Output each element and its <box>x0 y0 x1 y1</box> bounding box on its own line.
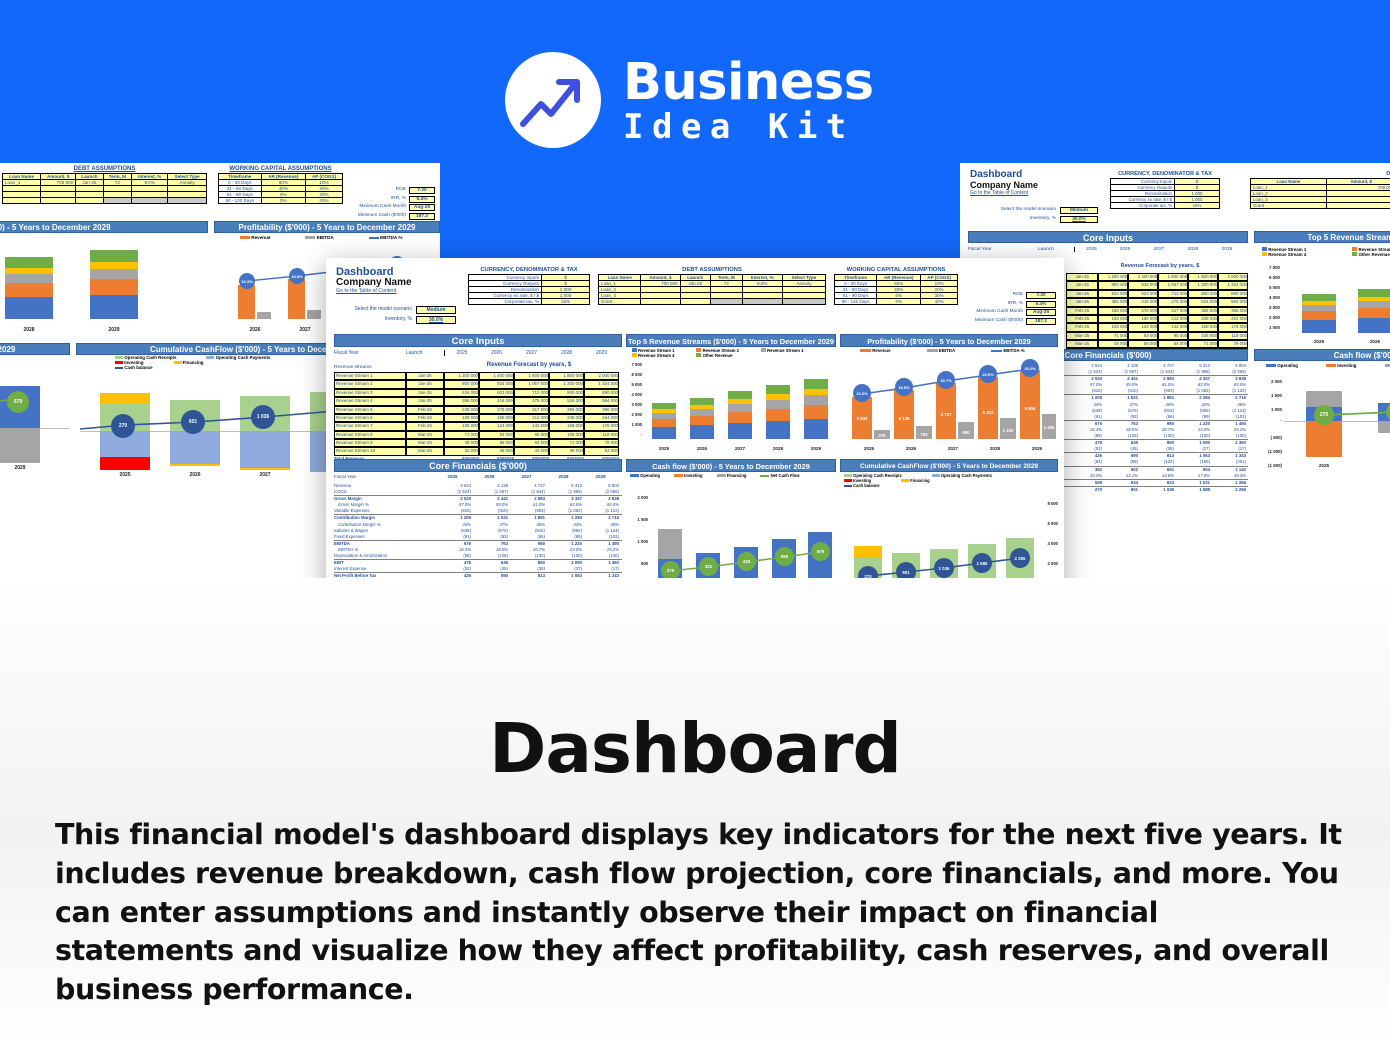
fin-row-value: (130) <box>508 553 545 559</box>
core-inputs-band: Core Inputs <box>334 334 622 347</box>
table-row: 0 - 30 Days60%10% <box>219 180 343 186</box>
revenue-stream-value[interactable]: 2 000 000 <box>1218 273 1248 281</box>
fin-row-value: (64) <box>1066 459 1102 465</box>
kpi-value: 7.20 <box>409 187 435 194</box>
fin-row-value: 601 <box>1102 487 1138 493</box>
fin-row-value: 1 063 <box>545 573 582 578</box>
revenue-stream-value[interactable]: 623 000 <box>479 389 514 397</box>
kpi-value: 5.4% <box>409 196 435 203</box>
revenue-stream-launch[interactable]: Jan-25 <box>1066 298 1098 306</box>
inventory-input[interactable]: 30.0% <box>1060 216 1098 223</box>
ebitda-pct-bubble: 16.3% <box>853 384 871 402</box>
table-row: Interest Expense(53)(45)(36)(27)(17) <box>334 566 622 572</box>
table-row: Revenue Stream 3Jan-25534 000623 000712 … <box>334 389 622 397</box>
fin-row-label: Variable Expenses <box>334 508 434 514</box>
revenue-stream-value[interactable]: 1 200 000 <box>549 380 584 388</box>
revenue-stream-launch[interactable]: Jan-25 <box>406 389 444 397</box>
fin-row-value: (53) <box>434 566 471 572</box>
table-row: 90 - 120 Days0%40% <box>835 299 958 305</box>
revenue-stream-value[interactable]: 264 000 <box>584 414 619 422</box>
revenue-stream-value[interactable]: 48 000 <box>549 447 584 455</box>
revenue-stream-value[interactable]: 264 000 <box>1218 315 1248 323</box>
fin-row-value: (815) <box>434 508 471 514</box>
fin-row-value: (36) <box>508 566 545 572</box>
revenue-stream-value[interactable]: 142 000 <box>1158 323 1188 331</box>
revenue-stream-value[interactable]: 1 067 000 <box>1158 281 1188 289</box>
fin-row-value: 19.3% <box>1210 473 1246 479</box>
revenue-stream-launch[interactable]: Feb-25 <box>406 414 444 422</box>
revenue-stream-value[interactable]: 934 000 <box>479 380 514 388</box>
fin-row-value: 590 <box>471 573 508 578</box>
fin-row-value: (27) <box>545 566 582 572</box>
revenue-stream-value[interactable]: 1 400 000 <box>479 372 514 380</box>
fin-row-value: (1 524) <box>434 489 471 495</box>
cash-balance-bubble: 601 <box>896 562 916 578</box>
fin-row-value: (102) <box>582 534 619 540</box>
revenue-stream-value[interactable]: 356 000 <box>549 406 584 414</box>
revenue-stream-launch[interactable]: Jan-25 <box>406 380 444 388</box>
right-company-name: Company Name <box>970 180 1038 190</box>
table-row: Grant <box>599 299 826 305</box>
revenue-stream-value[interactable]: 278 000 <box>479 406 514 414</box>
ebitda-pct-bubble: 20.7% <box>937 371 955 389</box>
revenue-stream-value[interactable]: 712 000 <box>1158 290 1188 298</box>
revenue-stream-launch[interactable]: Jan-25 <box>406 372 444 380</box>
fin-row-value: (130) <box>1174 433 1210 439</box>
left-top5-band: Top 5 Revenue Streams ($'000) - 5 Years … <box>0 221 208 233</box>
fin-row-value: 1 266 <box>1210 480 1246 486</box>
fin-row-value: (89) <box>1102 459 1138 465</box>
revenue-stream-value[interactable]: 396 000 <box>1218 307 1248 315</box>
revenue-stream-value[interactable]: 1 800 000 <box>549 372 584 380</box>
fin-row-value: (36) <box>1138 446 1174 452</box>
revenue-stream-value[interactable]: 396 000 <box>584 406 619 414</box>
revenue-stream-value[interactable]: 71 000 <box>1098 332 1128 340</box>
table-row: Variable Expenses(815)(910)(993)(1 062)(… <box>334 508 622 514</box>
fin-row-value: 1 343 <box>582 573 619 578</box>
center-toc-link[interactable]: Go to the Table of Content <box>336 288 412 294</box>
revenue-stream-value[interactable]: 186 000 <box>1128 315 1158 323</box>
revenue-stream-value[interactable]: 416 000 <box>479 397 514 405</box>
revenue-stream-value[interactable]: 71 000 <box>444 431 479 439</box>
revenue-stream-value[interactable]: 79 000 <box>584 439 619 447</box>
revenue-stream-launch[interactable]: Feb-25 <box>406 422 444 430</box>
right-toc-link[interactable]: Go to the Table of Content <box>970 190 1038 196</box>
revenue-stream-value[interactable]: 56 000 <box>1128 340 1158 348</box>
fin-row-value: (17) <box>582 566 619 572</box>
revenue-stream-value[interactable]: 238 000 <box>549 414 584 422</box>
brand-logo: Business Idea Kit <box>505 52 874 148</box>
table-row: 31 - 60 Days40%20% <box>219 186 343 192</box>
fin-row-value: (1 122) <box>582 508 619 514</box>
revenue-stream-value[interactable]: 64 000 <box>1158 340 1188 348</box>
fin-row-label: Depreciation & Amortization <box>334 553 434 559</box>
table-row: Revenue Stream 1Jan-251 200 0001 400 000… <box>334 372 622 380</box>
cashflow-chart: Operating Investing Financing Net Cash F… <box>626 473 836 578</box>
revenue-stream-value[interactable]: 623 000 <box>1128 290 1158 298</box>
revenue-stream-value[interactable]: 32 000 <box>444 447 479 455</box>
left-profitability-band: Profitability ($'000) - 5 Years to Decem… <box>214 221 440 233</box>
revenue-stream-value[interactable]: 56 000 <box>479 439 514 447</box>
inventory-input[interactable]: 30.0% <box>416 316 456 324</box>
revenue-stream-launch[interactable]: Jan-25 <box>1066 281 1098 289</box>
revenue-stream-value[interactable]: 64 000 <box>514 439 549 447</box>
profitability-band: Profitability ($'000) - 5 Years to Decem… <box>840 334 1058 347</box>
revenue-stream-value[interactable]: 1 334 000 <box>584 380 619 388</box>
kpi-label-min-cash-month: Minimum Cash Month <box>976 309 1023 316</box>
fin-row-value: (96) <box>508 534 545 540</box>
kpi-label: Minimum Cash ($'000) <box>358 213 406 220</box>
revenue-stream-name[interactable]: Revenue Stream 6 <box>334 414 406 422</box>
fin-row-value: 823 <box>1138 480 1174 486</box>
fin-row-value: (96) <box>1138 414 1174 420</box>
fin-row-value: (93) <box>471 534 508 540</box>
kpi-value-min-cash: 187.2 <box>1026 318 1056 325</box>
kpi-value: 187.2 <box>409 213 435 220</box>
kpi-value-irr: 5.4% <box>1026 301 1056 308</box>
revenue-stream-value[interactable]: 212 000 <box>1158 315 1188 323</box>
revenue-stream-value[interactable]: 95 000 <box>514 431 549 439</box>
top5-band: Top 5 Revenue Streams ($'000) - 5 Years … <box>626 334 836 347</box>
fin-row-value: 559 <box>1066 480 1102 486</box>
left-top5-chart: 2026 2027 2028 2029 <box>0 248 205 333</box>
fin-row-value: (815) <box>1066 388 1102 394</box>
table-row: Jan-25534 000623 000712 000800 000890 00… <box>1066 290 1248 298</box>
revenue-stream-value[interactable]: 43 000 <box>514 447 549 455</box>
revenue-stream-value[interactable]: 124 000 <box>1128 323 1158 331</box>
fin-row-value: (128) <box>471 553 508 559</box>
fin-row-value: (910) <box>1102 388 1138 394</box>
revenue-stream-value[interactable]: 176 000 <box>1218 323 1248 331</box>
table-row <box>3 198 207 204</box>
revenue-stream-launch[interactable]: Mar-25 <box>406 447 444 455</box>
right-cashflow-chart: Operating Investing Financing 2 000 1 50… <box>1260 363 1390 478</box>
revenue-stream-value[interactable]: 159 000 <box>1098 315 1128 323</box>
table-row: Jan-25800 000934 0001 067 0001 200 0001 … <box>1066 281 1248 289</box>
revenue-stream-value[interactable]: 1 334 000 <box>1218 281 1248 289</box>
screenshot-center: Dashboard Company Name Go to the Table o… <box>326 258 1064 578</box>
ebitda-pct-bubble: 18.5% <box>895 378 913 396</box>
fin-row-value: (130) <box>1210 433 1246 439</box>
revenue-stream-value[interactable]: 106 000 <box>444 422 479 430</box>
scenario-select[interactable]: Medium <box>1060 207 1098 214</box>
revenue-stream-value[interactable]: 1 400 000 <box>1128 273 1158 281</box>
table-row: Jan-25356 000416 000475 000534 000594 00… <box>1066 298 1248 306</box>
revenue-stream-launch[interactable]: Mar-25 <box>1066 332 1098 340</box>
fin-row-value: (2 066) <box>1210 369 1246 375</box>
fin-row-label: COGS <box>334 489 434 495</box>
table-row: 61 - 90 Days0%30% <box>835 293 958 299</box>
brand-subtitle: Idea Kit <box>623 110 874 144</box>
revenue-stream-value[interactable]: 356 000 <box>1098 298 1128 306</box>
bottom-section: Dashboard This financial model's dashboa… <box>0 578 1390 1043</box>
fin-row-value: 1 036 <box>1138 487 1174 493</box>
revenue-stream-value[interactable]: 48 000 <box>1098 340 1128 348</box>
revenue-stream-name[interactable]: Revenue Stream 10 <box>334 447 406 455</box>
table-row: Depreciation & Amortization(98)(128)(130… <box>334 553 622 559</box>
revenue-stream-value[interactable]: 890 000 <box>584 389 619 397</box>
table-row: Timeframe AR (Revenue) AP (COGS) <box>219 174 343 180</box>
revenue-stream-value[interactable]: 1 600 000 <box>514 372 549 380</box>
fin-row-value: (130) <box>545 553 582 559</box>
revenue-stream-value[interactable]: 2 000 000 <box>584 372 619 380</box>
revenue-stream-value[interactable]: 800 000 <box>1098 281 1128 289</box>
revenue-stream-name[interactable]: Revenue Stream 1 <box>334 372 406 380</box>
table-row: Net Profit Before Tax4265908131 0631 343 <box>334 572 622 578</box>
revenue-stream-value[interactable]: 212 000 <box>514 414 549 422</box>
revenue-stream-value[interactable]: 1 200 000 <box>1098 273 1128 281</box>
table-row: Mar-2548 00056 00064 00071 00079 000 <box>1066 340 1248 348</box>
right-dashboard-title: Dashboard <box>970 169 1038 180</box>
fin-row-value: (99) <box>545 534 582 540</box>
kpi-label: Minimum Cash Month <box>359 204 406 211</box>
revenue-stream-value[interactable]: 118 000 <box>1218 332 1248 340</box>
fin-row-value: (1 122) <box>1210 388 1246 394</box>
revenue-stream-value[interactable]: 159 000 <box>1188 323 1218 331</box>
revenue-stream-value[interactable]: 95 000 <box>1158 332 1188 340</box>
fin-row-value: (993) <box>1138 388 1174 394</box>
fin-row-value: (910) <box>471 508 508 514</box>
fin-row-value: (17) <box>1210 446 1246 452</box>
revenue-stream-launch[interactable]: Feb-25 <box>1066 307 1098 315</box>
cumcashflow-chart: Operating Cash Receipts Operating Cash P… <box>840 473 1058 578</box>
debt-title: DEBT ASSUMPTIONS <box>598 267 826 273</box>
table-row: Revenue Stream 10Mar-2532 00038 00043 00… <box>334 447 622 455</box>
fin-row-value: 813 <box>508 573 545 578</box>
fin-row-value: (201) <box>1210 459 1246 465</box>
fin-row-value: (130) <box>582 553 619 559</box>
revenue-stream-value[interactable]: 238 000 <box>1188 315 1218 323</box>
revenue-stream-name[interactable]: Revenue Stream 7 <box>334 422 406 430</box>
revenue-stream-value[interactable]: 159 000 <box>444 414 479 422</box>
fin-row-value: (98) <box>1066 433 1102 439</box>
fin-row-value: (102) <box>1210 414 1246 420</box>
fin-row-label: Net Profit Before Tax <box>334 573 434 578</box>
revenue-stream-value[interactable]: 71 000 <box>549 439 584 447</box>
revenue-stream-value[interactable]: 800 000 <box>444 380 479 388</box>
revenue-stream-name[interactable]: Revenue Stream 8 <box>334 431 406 439</box>
netcashflow-bubble: 331 <box>699 557 718 576</box>
revenue-stream-value[interactable]: 83 000 <box>1128 332 1158 340</box>
scenario-label: Select the model scenario <box>334 306 412 314</box>
revenue-stream-value[interactable]: 278 000 <box>1128 307 1158 315</box>
table-row: Revenue Stream 4Jan-25356 000416 000475 … <box>334 397 622 405</box>
revenue-stream-name[interactable]: Revenue Stream 9 <box>334 439 406 447</box>
table-row: Timeframe AR (Revenue) AP (COGS) <box>835 275 958 281</box>
revenue-stream-value[interactable]: 475 000 <box>514 397 549 405</box>
profitability-chart: Revenue EBITDA EBITDA % 16.3% 18.5% 20.7… <box>840 348 1058 453</box>
revenue-stream-value[interactable]: 594 000 <box>1218 298 1248 306</box>
fin-row-value: (91) <box>1066 414 1102 420</box>
growth-arrow-icon <box>505 52 601 148</box>
fin-row-value: (128) <box>1102 433 1138 439</box>
fin-row-value: (53) <box>1066 446 1102 452</box>
table-row: 31 - 60 Days40%20% <box>835 287 958 293</box>
revenue-stream-value[interactable]: 800 000 <box>549 389 584 397</box>
fin-row-value: (2 066) <box>582 489 619 495</box>
table-row: Feb-25238 000278 000317 000356 000396 00… <box>1066 307 1248 315</box>
revenue-stream-value[interactable]: 118 000 <box>584 431 619 439</box>
kpi-value-roe: 7.20 <box>1026 292 1056 299</box>
fin-row-value: (1 965) <box>545 489 582 495</box>
fin-row-value: (91) <box>434 534 471 540</box>
hero-banner: Business Idea Kit DEBT ASSUMPTIONS Loan … <box>0 0 1390 578</box>
revenue-stream-launch[interactable]: Mar-25 <box>406 439 444 447</box>
revenue-stream-value[interactable]: 594 000 <box>584 397 619 405</box>
table-row: Revenue Stream 7Feb-25106 000124 000142 … <box>334 422 622 430</box>
table-row: 61 - 90 Days0%30% <box>219 192 343 198</box>
revenue-stream-launch[interactable]: Jan-25 <box>1066 290 1098 298</box>
wc-title: WORKING CAPITAL ASSUMPTIONS <box>834 267 958 273</box>
revenue-stream-launch[interactable]: Jan-25 <box>1066 273 1098 281</box>
fin-row-value: (1 062) <box>1174 388 1210 394</box>
revenue-stream-value[interactable]: 83 000 <box>479 431 514 439</box>
revenue-stream-value[interactable]: 712 000 <box>514 389 549 397</box>
table-row: Revenue Stream 6Feb-25159 000186 000212 … <box>334 414 622 422</box>
revenue-stream-launch[interactable]: Mar-25 <box>406 431 444 439</box>
netcashflow-bubble: 550 <box>775 547 794 566</box>
kpi-label-irr: IRR, % <box>1008 301 1023 308</box>
revenue-stream-launch[interactable]: Feb-25 <box>1066 323 1098 331</box>
revenue-stream-value[interactable]: 79 000 <box>1218 340 1248 348</box>
revenue-stream-name[interactable]: Revenue Stream 5 <box>334 406 406 414</box>
revenue-stream-value[interactable]: 800 000 <box>1188 290 1218 298</box>
revenue-stream-value[interactable]: 1 800 000 <box>1188 273 1218 281</box>
revenue-stream-value[interactable]: 106 000 <box>1188 332 1218 340</box>
cash-balance-bubble: 2 265 <box>1010 548 1030 568</box>
table-row: Fixed Expenses(91)(93)(96)(99)(102) <box>334 534 622 540</box>
table-row: Contribution Margin1 2051 5311 8912 2842… <box>334 514 622 521</box>
revenue-stream-name[interactable]: Revenue Stream 2 <box>334 380 406 388</box>
fin-row-value: 270 <box>1066 487 1102 493</box>
table-row: Revenue Stream 9Mar-2548 00056 00064 000… <box>334 439 622 447</box>
fin-row-value: 1 031 <box>1174 480 1210 486</box>
revenue-stream-value[interactable]: 159 000 <box>549 422 584 430</box>
revenue-stream-value[interactable]: 356 000 <box>444 397 479 405</box>
revenue-stream-value[interactable]: 416 000 <box>1128 298 1158 306</box>
fin-row-value: (45) <box>471 566 508 572</box>
table-row: EBITDA5767639801 2201 490 <box>334 540 622 547</box>
revenue-stream-value[interactable]: 106 000 <box>1098 323 1128 331</box>
fin-row-value: 10.2% <box>1066 473 1102 479</box>
fin-row-value: 17.0% <box>1174 473 1210 479</box>
revenue-stream-value[interactable]: 38 000 <box>479 447 514 455</box>
revenue-stream-value[interactable]: 48 000 <box>444 439 479 447</box>
revenue-stream-value[interactable]: 1 600 000 <box>1158 273 1188 281</box>
fin-row-value: (1 844) <box>508 489 545 495</box>
revenue-stream-value[interactable]: 1 067 000 <box>514 380 549 388</box>
revenue-stream-launch[interactable]: Mar-25 <box>1066 340 1098 348</box>
core-financials-band: Core Financials ($'000) <box>334 459 622 472</box>
revenue-forecast-title: Revenue Forecast by years, $ <box>436 362 622 368</box>
revenue-streams-label: Revenue streams <box>334 365 372 370</box>
left-debt-title: DEBT ASSUMPTIONS <box>2 166 207 172</box>
fiscal-year-label: Fiscal Year <box>334 350 406 356</box>
revenue-stream-value[interactable]: 534 000 <box>444 389 479 397</box>
kpi-label-roe: ROE <box>1013 292 1023 299</box>
table-row: COGS(1 524)(1 697)(1 844)(1 965)(2 066) <box>334 489 622 495</box>
ebitda-pct-bubble: 23.0% <box>979 365 997 383</box>
kpi-label: ROE <box>396 187 406 194</box>
table-row: Corporate tax, %15% <box>469 299 590 305</box>
revenue-stream-value[interactable]: 356 000 <box>1188 307 1218 315</box>
kpi-label-min-cash: Minimum Cash ($'000) <box>975 318 1023 325</box>
left-cashflow-chart: 331 435 550 679 2026 2027 2028 2029 <box>0 373 70 478</box>
revenue-stream-value[interactable]: 317 000 <box>1158 307 1188 315</box>
revenue-forecast-table: Revenue Stream 1Jan-251 200 0001 400 000… <box>334 372 622 462</box>
netcashflow-bubble: 435 <box>737 552 756 571</box>
brand-name: Business <box>623 57 874 108</box>
fin-row-value: (1 697) <box>1102 369 1138 375</box>
fin-row-value: (93) <box>1102 414 1138 420</box>
fin-row-value: 14.6% <box>1138 473 1174 479</box>
revenue-stream-value[interactable]: 317 000 <box>514 406 549 414</box>
revenue-stream-value[interactable]: 1 200 000 <box>1188 281 1218 289</box>
revenue-stream-value[interactable]: 186 000 <box>479 414 514 422</box>
revenue-stream-name[interactable]: Revenue Stream 3 <box>334 389 406 397</box>
fin-row-value: 1 585 <box>1174 487 1210 493</box>
revenue-stream-value[interactable]: 238 000 <box>1098 307 1128 315</box>
table-row: EBIT4786358501 0901 360 <box>334 559 622 566</box>
top5-chart: Revenue Stream 1 Revenue Stream 2 Revenu… <box>626 348 838 453</box>
launch-label: Launch <box>406 350 444 356</box>
fin-row-value: (1 524) <box>1066 369 1102 375</box>
revenue-stream-value[interactable]: 106 000 <box>549 431 584 439</box>
fin-row-value: (122) <box>1138 459 1174 465</box>
revenue-stream-value[interactable]: 534 000 <box>1098 290 1128 298</box>
table-row: Revenue Stream 8Mar-2571 00083 00095 000… <box>334 431 622 439</box>
revenue-stream-value[interactable]: 534 000 <box>549 397 584 405</box>
revenue-stream-value[interactable]: 176 000 <box>584 422 619 430</box>
revenue-stream-value[interactable]: 475 000 <box>1158 298 1188 306</box>
revenue-stream-value[interactable]: 124 000 <box>479 422 514 430</box>
fin-row-value: (99) <box>1174 414 1210 420</box>
revenue-stream-value[interactable]: 890 000 <box>1218 290 1248 298</box>
kpi-value-min-cash-month: Aug-25 <box>1026 309 1056 316</box>
netcashflow-bubble: 679 <box>811 542 830 561</box>
fin-row-value: (130) <box>1138 433 1174 439</box>
revenue-stream-value[interactable]: 53 000 <box>584 447 619 455</box>
fin-row-value: 2 265 <box>1210 487 1246 493</box>
revenue-stream-name[interactable]: Revenue Stream 4 <box>334 397 406 405</box>
center-company-name: Company Name <box>336 277 412 288</box>
fin-row-value: (27) <box>1174 446 1210 452</box>
inventory-label: Inventory, % <box>334 316 412 324</box>
cash-balance-bubble: 1 036 <box>934 558 954 578</box>
scenario-select[interactable]: Medium <box>416 306 456 314</box>
table-row: Grant <box>1251 203 1390 209</box>
fin-row-value: 12.1% <box>1102 473 1138 479</box>
left-cashflow-band: Cash flow ($'000) - 5 Years to December … <box>0 343 70 355</box>
revenue-stream-launch[interactable]: Jan-25 <box>406 397 444 405</box>
fin-row-value: (1 965) <box>1174 369 1210 375</box>
fin-row-value: (1 697) <box>471 489 508 495</box>
revenue-stream-value[interactable]: 71 000 <box>1188 340 1218 348</box>
fin-row-value: (45) <box>1102 446 1138 452</box>
revenue-stream-value[interactable]: 238 000 <box>444 406 479 414</box>
netcashflow-bubble: 270 <box>661 561 680 578</box>
table-row: Revenue Stream 2Jan-25800 000934 0001 06… <box>334 380 622 388</box>
table-row: 90 - 120 Days0%40% <box>219 198 343 204</box>
revenue-stream-value[interactable]: 934 000 <box>1128 281 1158 289</box>
core-financials-table: Revenue3 5444 1384 7275 3125 904COGS(1 5… <box>334 483 622 578</box>
revenue-stream-value[interactable]: 142 000 <box>514 422 549 430</box>
revenue-stream-launch[interactable]: Feb-25 <box>406 406 444 414</box>
revenue-stream-value[interactable]: 1 200 000 <box>444 372 479 380</box>
revenue-stream-launch[interactable]: Feb-25 <box>1066 315 1098 323</box>
revenue-stream-value[interactable]: 534 000 <box>1188 298 1218 306</box>
fin-row-label: Interest Expense <box>334 566 434 572</box>
